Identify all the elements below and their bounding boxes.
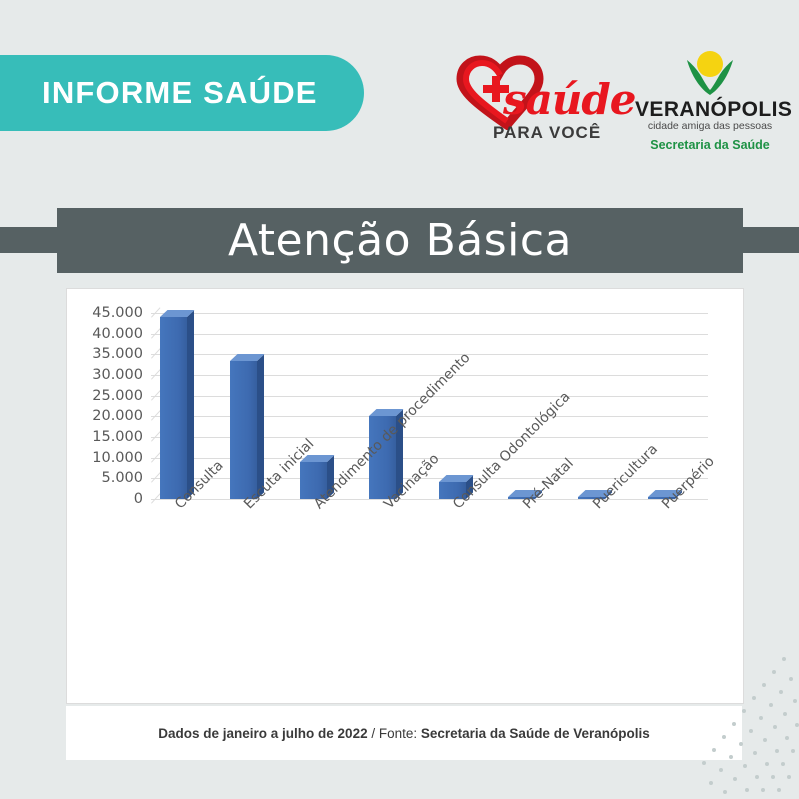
- y-axis-tick-label: 5.000: [101, 470, 143, 486]
- footer-period: Dados de janeiro a julho de 2022: [158, 726, 367, 741]
- y-axis-tick-label: 40.000: [92, 326, 143, 342]
- x-axis-labels: ConsultaEscuta inicialAtendimento de pro…: [151, 501, 708, 651]
- bar-front-face: [160, 317, 187, 499]
- bar-chart: 05.00010.00015.00020.00025.00030.00035.0…: [67, 289, 743, 703]
- gridline: [151, 499, 708, 500]
- page-title: Atenção Básica: [228, 215, 572, 266]
- bar-side-face: [187, 311, 194, 499]
- veranopolis-city-name: VERANÓPOLIS: [635, 98, 785, 122]
- y-axis-tick-label: 0: [134, 491, 143, 507]
- para-voce-text: PARA VOCÊ: [493, 123, 601, 143]
- footer-source-text: Dados de janeiro a julho de 2022 / Fonte…: [158, 726, 649, 741]
- y-axis-tick-label: 20.000: [92, 408, 143, 424]
- title-banner: Atenção Básica: [0, 200, 799, 280]
- y-axis-tick-label: 45.000: [92, 305, 143, 321]
- veranopolis-logo: VERANÓPOLIS cidade amiga das pessoas Sec…: [635, 48, 785, 153]
- bar-front-face: [230, 361, 257, 499]
- badge-label: INFORME SAÚDE: [42, 75, 318, 111]
- veranopolis-department: Secretaria da Saúde: [635, 138, 785, 152]
- banner-box: Atenção Básica: [57, 208, 743, 273]
- saude-para-voce-logo: saúde PARA VOCÊ: [455, 55, 620, 150]
- bar: [160, 310, 187, 499]
- y-axis-tick-label: 15.000: [92, 429, 143, 445]
- y-axis-tick-label: 25.000: [92, 388, 143, 404]
- saude-wordmark: saúde: [503, 75, 635, 124]
- footer-card: Dados de janeiro a julho de 2022 / Fonte…: [66, 706, 742, 760]
- y-axis-labels: 05.00010.00015.00020.00025.00030.00035.0…: [67, 313, 143, 499]
- veranopolis-person-icon: [635, 48, 785, 100]
- veranopolis-tagline: cidade amiga das pessoas: [635, 120, 785, 132]
- footer-source: Secretaria da Saúde de Veranópolis: [421, 726, 650, 741]
- page-header: INFORME SAÚDE saúde PARA VOCÊ VERANÓPOLI…: [0, 0, 799, 175]
- bar: [230, 354, 257, 499]
- footer-separator: / Fonte:: [368, 726, 421, 741]
- y-axis-tick-label: 10.000: [92, 450, 143, 466]
- y-axis-tick-label: 35.000: [92, 346, 143, 362]
- chart-card: 05.00010.00015.00020.00025.00030.00035.0…: [66, 288, 744, 704]
- y-axis-tick-label: 30.000: [92, 367, 143, 383]
- informe-saude-badge: INFORME SAÚDE: [0, 55, 364, 131]
